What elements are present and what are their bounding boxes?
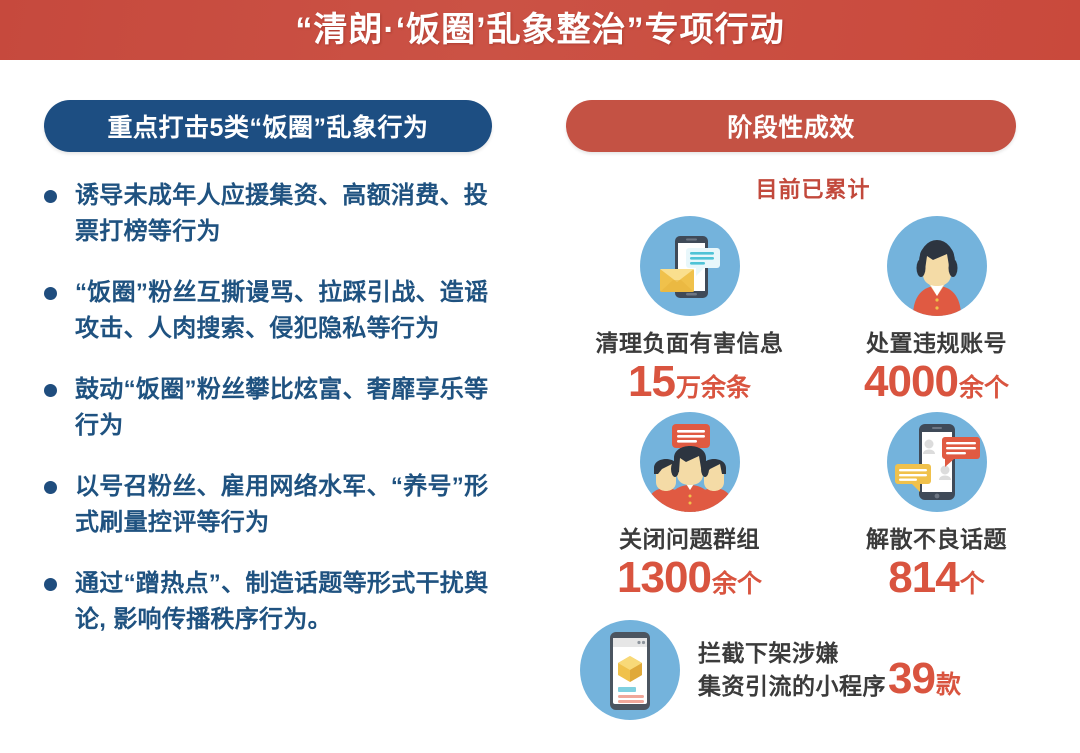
stat-cell: 清理负面有害信息 15万余条 bbox=[566, 216, 813, 404]
phone-miniprogram-cube-icon bbox=[580, 620, 680, 720]
stat-value: 4000余个 bbox=[864, 360, 1009, 404]
bullet-dot-icon bbox=[44, 190, 57, 203]
stat-unit: 余个 bbox=[712, 570, 762, 598]
stat-cell: 处置违规账号 4000余个 bbox=[813, 216, 1060, 404]
stat-number: 4000 bbox=[864, 357, 958, 406]
stat-unit: 个 bbox=[960, 570, 985, 598]
stat-cell: 解散不良话题 814个 bbox=[813, 412, 1060, 600]
wide-stat-unit: 款 bbox=[936, 671, 961, 699]
left-column: 重点打击5类“饭圈”乱象行为 诱导未成年人应援集资、高额消费、投票打榜等行为 “… bbox=[0, 60, 530, 753]
left-section-heading: 重点打击5类“饭圈”乱象行为 bbox=[44, 100, 492, 152]
list-item: 以号召粉丝、雇用网络水军、“养号”形式刷量控评等行为 bbox=[44, 469, 530, 540]
stat-unit: 万余条 bbox=[676, 374, 751, 402]
wide-stat: 拦截下架涉嫌 集资引流的小程序 39款 bbox=[566, 620, 1060, 720]
violation-list: 诱导未成年人应援集资、高额消费、投票打榜等行为 “饭圈”粉丝互撕谩骂、拉踩引战、… bbox=[44, 178, 530, 637]
wide-stat-lines: 拦截下架涉嫌 集资引流的小程序 bbox=[698, 637, 886, 702]
right-section-heading-label: 阶段性成效 bbox=[727, 108, 855, 144]
list-item: 诱导未成年人应援集资、高额消费、投票打榜等行为 bbox=[44, 178, 530, 249]
stat-value: 15万余条 bbox=[628, 360, 751, 404]
right-section-heading: 阶段性成效 bbox=[566, 100, 1016, 152]
person-avatar-icon bbox=[887, 216, 987, 316]
left-section-heading-label: 重点打击5类“饭圈”乱象行为 bbox=[108, 108, 429, 144]
list-item-text: 以号召粉丝、雇用网络水军、“养号”形式刷量控评等行为 bbox=[75, 469, 505, 540]
stat-value: 1300余个 bbox=[617, 556, 762, 600]
list-item: 鼓动“饭圈”粉丝攀比炫富、奢靡享乐等行为 bbox=[44, 372, 530, 443]
wide-stat-line1: 拦截下架涉嫌 bbox=[698, 637, 886, 670]
stat-cell: 关闭问题群组 1300余个 bbox=[566, 412, 813, 600]
stat-label: 处置违规账号 bbox=[866, 324, 1007, 358]
list-item-text: 鼓动“饭圈”粉丝攀比炫富、奢靡享乐等行为 bbox=[75, 372, 505, 443]
wide-stat-line2: 集资引流的小程序 bbox=[698, 670, 886, 703]
page-title: “清朗·‘饭圈’乱象整治”专项行动 bbox=[295, 13, 784, 47]
wide-stat-text: 拦截下架涉嫌 集资引流的小程序 39款 bbox=[698, 637, 961, 702]
stat-label: 解散不良话题 bbox=[866, 520, 1007, 554]
list-item: “饭圈”粉丝互撕谩骂、拉踩引战、造谣攻击、人肉搜索、侵犯隐私等行为 bbox=[44, 275, 530, 346]
right-column: 阶段性成效 目前已累计 bbox=[530, 60, 1080, 753]
stat-number: 1300 bbox=[617, 553, 711, 602]
bullet-dot-icon bbox=[44, 287, 57, 300]
wide-stat-number: 39 bbox=[888, 654, 935, 703]
infographic-body: 重点打击5类“饭圈”乱象行为 诱导未成年人应援集资、高额消费、投票打榜等行为 “… bbox=[0, 60, 1080, 753]
stat-number: 15 bbox=[628, 357, 675, 406]
accumulated-label: 目前已累计 bbox=[566, 172, 1060, 204]
list-item-text: 通过“蹭热点”、制造话题等形式干扰舆论, 影响传播秩序行为。 bbox=[75, 566, 505, 637]
stat-label: 关闭问题群组 bbox=[619, 520, 760, 554]
list-item-text: “饭圈”粉丝互撕谩骂、拉踩引战、造谣攻击、人肉搜索、侵犯隐私等行为 bbox=[75, 275, 505, 346]
phone-message-envelope-icon bbox=[640, 216, 740, 316]
page-header: “清朗·‘饭圈’乱象整治”专项行动 bbox=[0, 0, 1080, 60]
bullet-dot-icon bbox=[44, 481, 57, 494]
wide-stat-value: 39款 bbox=[888, 657, 961, 701]
stat-value: 814个 bbox=[888, 556, 984, 600]
stat-number: 814 bbox=[888, 553, 958, 602]
bullet-dot-icon bbox=[44, 578, 57, 591]
list-item-text: 诱导未成年人应援集资、高额消费、投票打榜等行为 bbox=[75, 178, 505, 249]
stat-unit: 余个 bbox=[959, 374, 1009, 402]
stat-label: 清理负面有害信息 bbox=[596, 324, 784, 358]
statistics-grid: 清理负面有害信息 15万余条 bbox=[566, 216, 1060, 608]
list-item: 通过“蹭热点”、制造话题等形式干扰舆论, 影响传播秩序行为。 bbox=[44, 566, 530, 637]
phone-chat-bubbles-icon bbox=[887, 412, 987, 512]
people-group-chat-icon bbox=[640, 412, 740, 512]
bullet-dot-icon bbox=[44, 384, 57, 397]
